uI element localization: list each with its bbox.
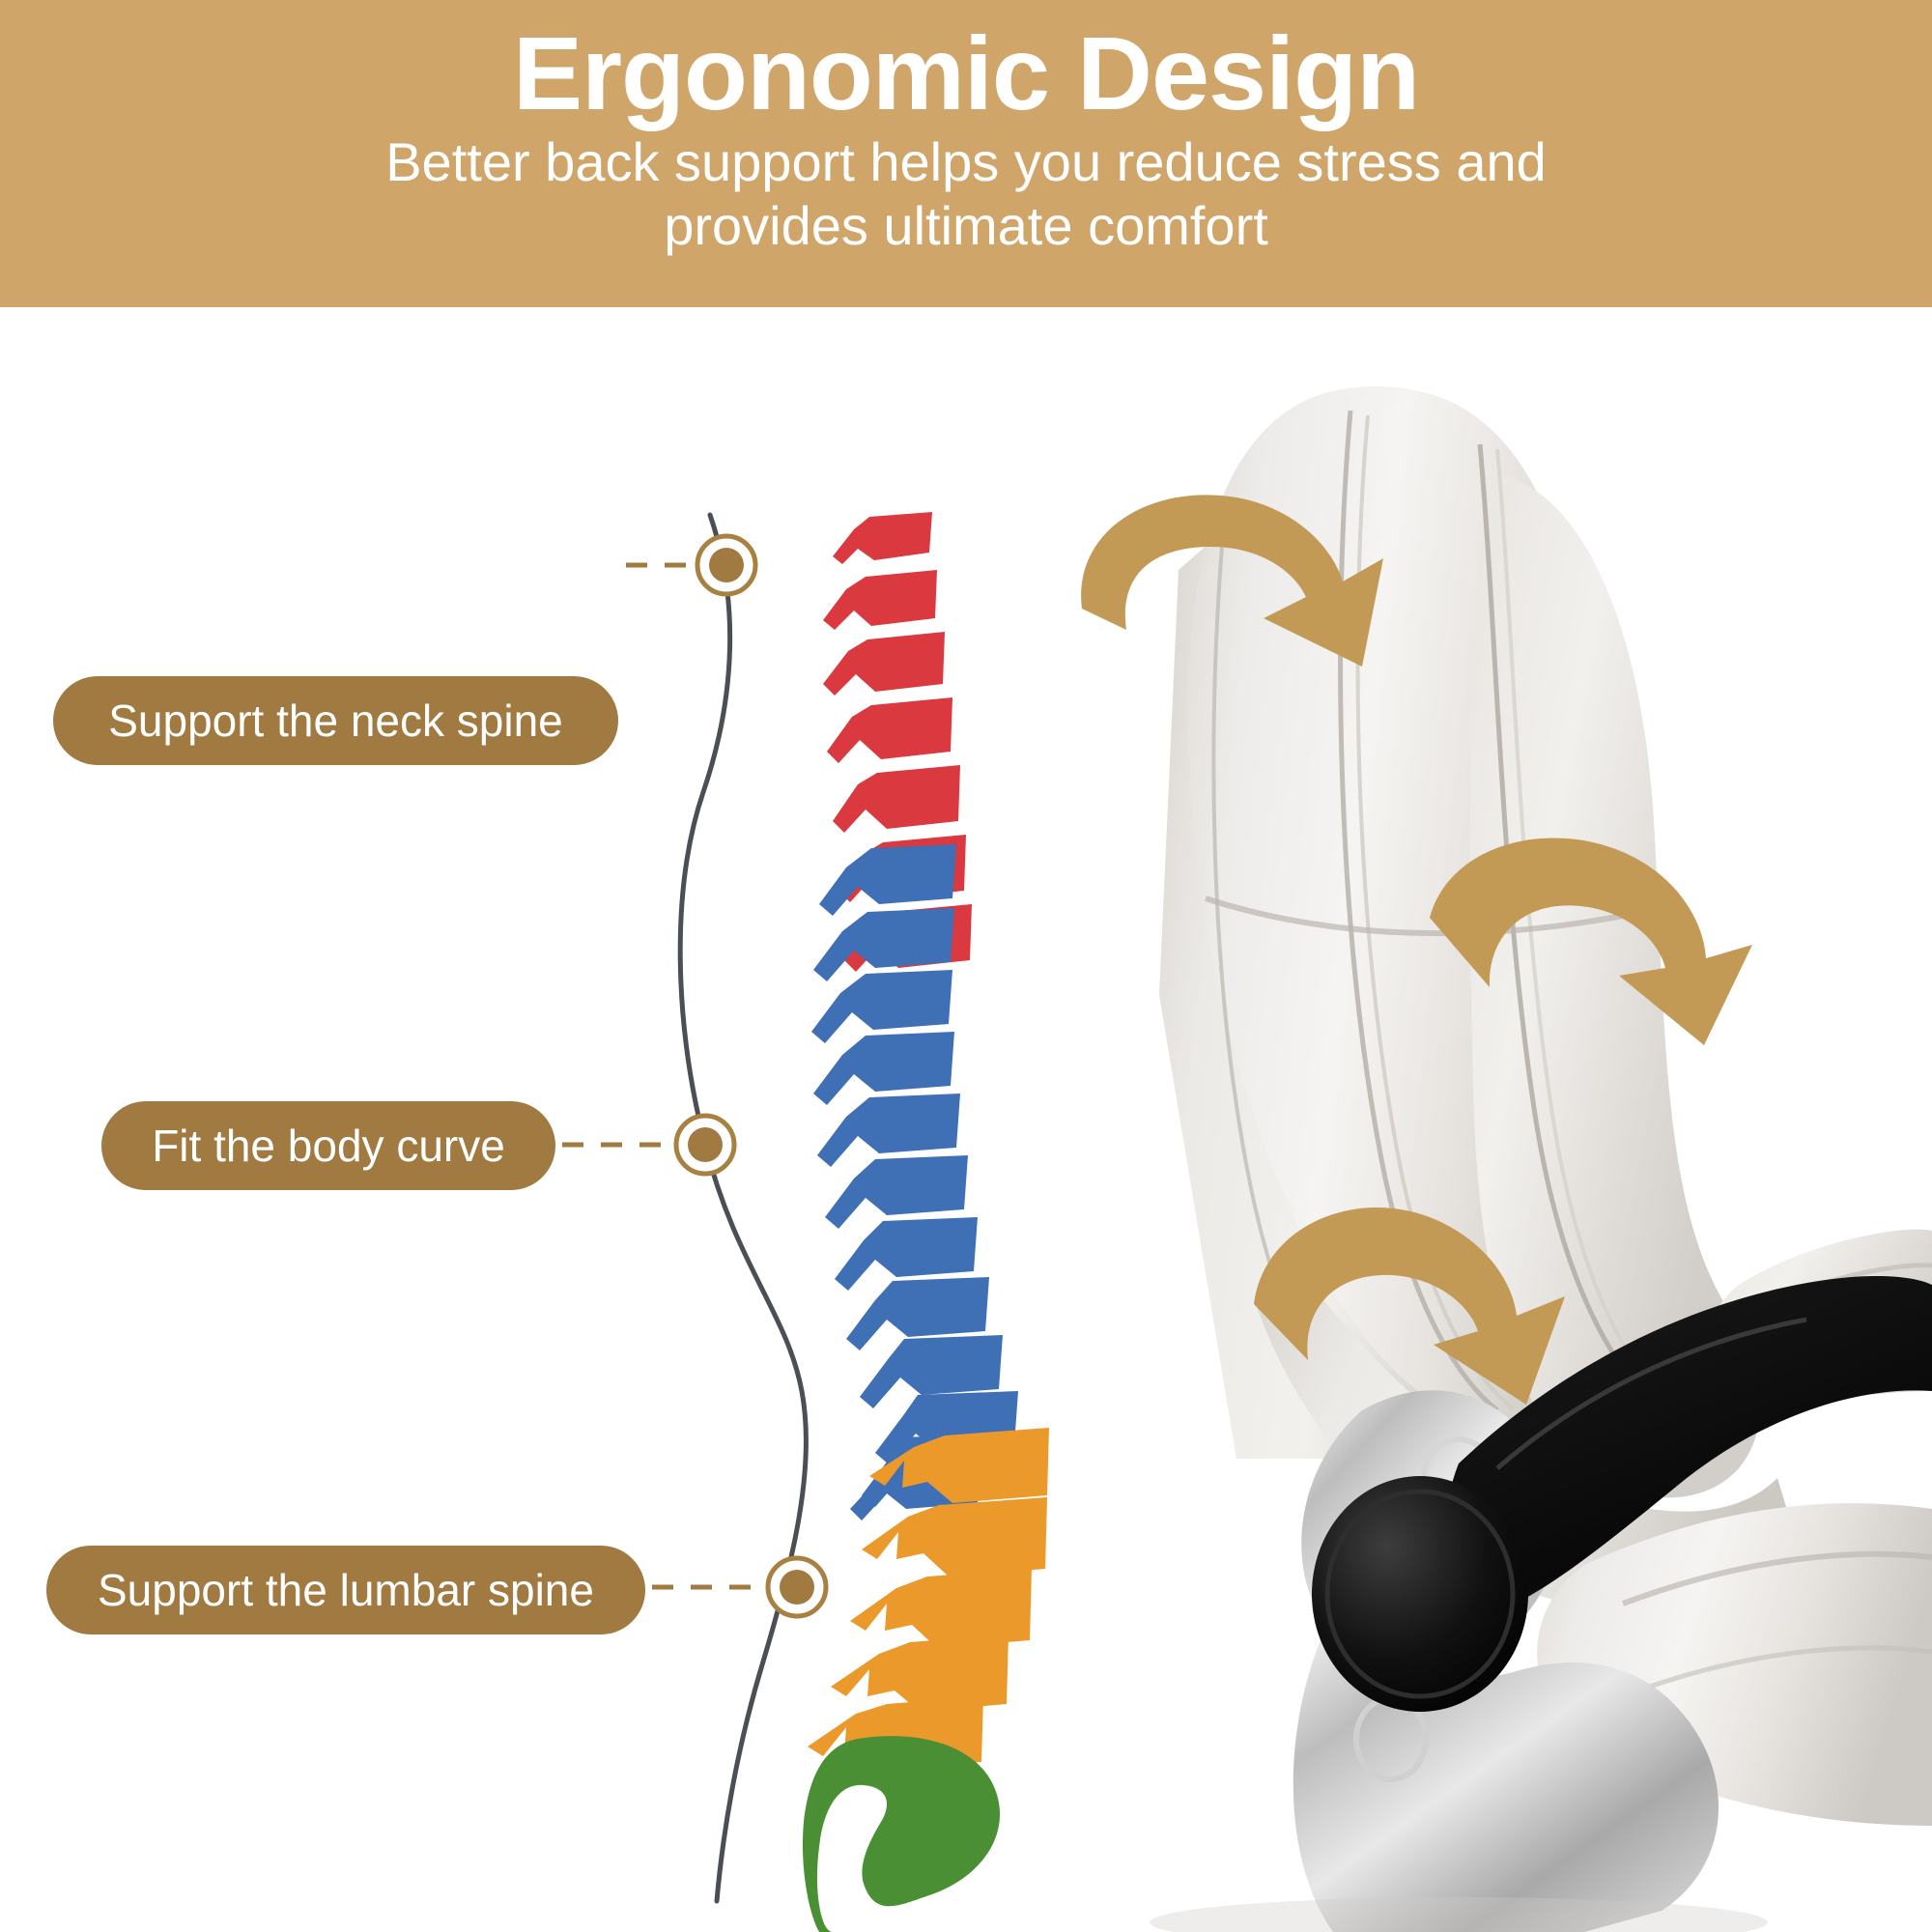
callout-label-lumbar-spine: Support the lumbar spine	[98, 1564, 594, 1616]
page-title: Ergonomic Design	[513, 17, 1419, 130]
chair-illustration	[1043, 319, 1932, 1932]
callout-pill-neck-spine[interactable]: Support the neck spine	[53, 676, 618, 765]
ergonomic-design-infographic: Ergonomic Design Better back support hel…	[0, 0, 1932, 1932]
callout-label-body-curve: Fit the body curve	[152, 1120, 505, 1172]
callout-label-neck-spine: Support the neck spine	[108, 695, 563, 747]
office-chair-photo	[1043, 319, 1932, 1932]
spine-segment-lumbar	[808, 1428, 1049, 1770]
connector-dot-curve	[676, 1116, 734, 1174]
armrest-pivot-cap	[1312, 1476, 1528, 1712]
callout-pill-body-curve[interactable]: Fit the body curve	[101, 1101, 555, 1190]
spine-segment-cervical	[823, 512, 972, 972]
header-banner: Ergonomic Design Better back support hel…	[0, 0, 1932, 307]
connector-dot-lumbar	[768, 1558, 826, 1616]
spine-segment-thoracic	[811, 844, 1018, 1520]
spine-segment-sacrum	[803, 1736, 1000, 1932]
callout-pill-lumbar-spine[interactable]: Support the lumbar spine	[46, 1546, 645, 1634]
chair-shadow	[1150, 1897, 1768, 1932]
subtitle-line-2: provides ultimate comfort	[664, 194, 1268, 258]
body-profile-curve	[680, 515, 806, 1901]
connector-dot-neck	[697, 536, 755, 594]
subtitle-line-1: Better back support helps you reduce str…	[385, 130, 1547, 194]
